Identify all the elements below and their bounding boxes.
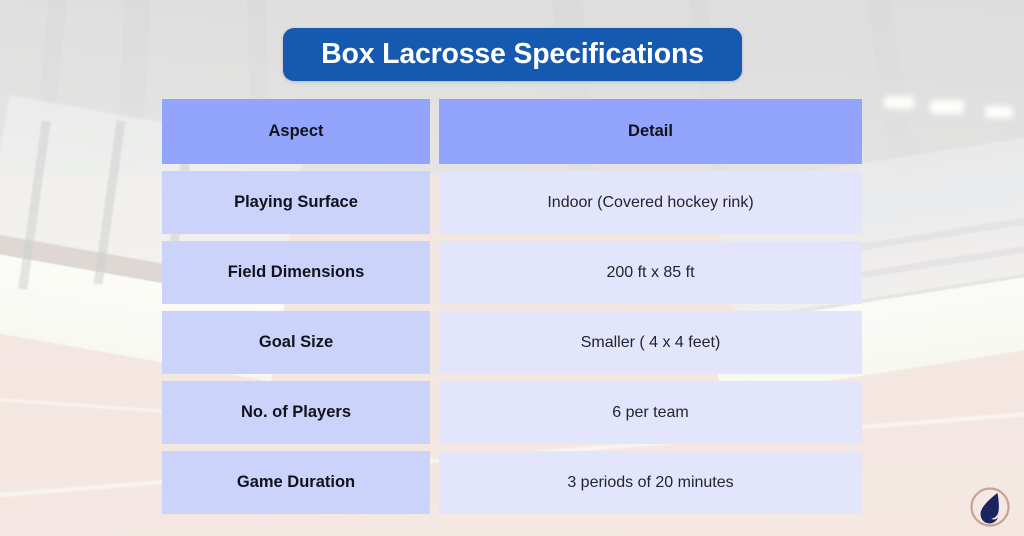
table-row: Game Duration 3 periods of 20 minutes xyxy=(162,451,862,514)
table-row: No. of Players 6 per team xyxy=(162,381,862,444)
cell-detail: 3 periods of 20 minutes xyxy=(439,451,862,514)
table-row: Field Dimensions 200 ft x 85 ft xyxy=(162,241,862,304)
table-row: Playing Surface Indoor (Covered hockey r… xyxy=(162,171,862,234)
cell-aspect: Goal Size xyxy=(162,311,430,374)
cell-detail: Indoor (Covered hockey rink) xyxy=(439,171,862,234)
table-header-row: Aspect Detail xyxy=(162,99,862,164)
cell-aspect: Playing Surface xyxy=(162,171,430,234)
brand-logo xyxy=(967,484,1013,530)
cell-detail: Smaller ( 4 x 4 feet) xyxy=(439,311,862,374)
column-header-aspect: Aspect xyxy=(162,99,430,164)
page-title: Box Lacrosse Specifications xyxy=(321,38,704,71)
cell-aspect: Game Duration xyxy=(162,451,430,514)
droplet-logo-icon xyxy=(967,484,1013,530)
cell-aspect: Field Dimensions xyxy=(162,241,430,304)
page-title-banner: Box Lacrosse Specifications xyxy=(283,28,742,81)
column-header-detail: Detail xyxy=(439,99,862,164)
cell-detail: 6 per team xyxy=(439,381,862,444)
logo-droplet xyxy=(981,493,999,523)
specifications-table: Aspect Detail Playing Surface Indoor (Co… xyxy=(162,99,862,514)
cell-detail: 200 ft x 85 ft xyxy=(439,241,862,304)
cell-aspect: No. of Players xyxy=(162,381,430,444)
table-row: Goal Size Smaller ( 4 x 4 feet) xyxy=(162,311,862,374)
